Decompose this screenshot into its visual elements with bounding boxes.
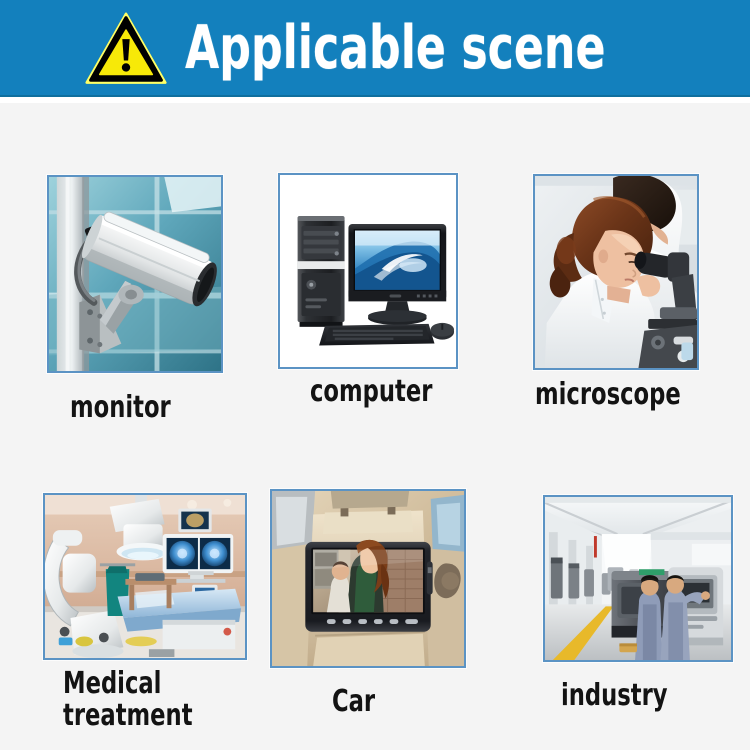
scene-card-microscope: microscope [533, 174, 699, 370]
medical-operating-room-photo [43, 493, 247, 660]
applicable-scene-page: Applicable scene [0, 0, 750, 750]
scene-card-industry: industry [543, 495, 733, 662]
page-header-banner: Applicable scene [0, 0, 750, 97]
factory-floor-photo [543, 495, 733, 662]
desktop-computer-photo [278, 173, 458, 369]
scene-label-computer: computer [310, 376, 432, 408]
warning-triangle-icon [85, 12, 167, 86]
scene-label-industry: industry [561, 680, 668, 712]
scene-label-medical: Medical treatment [63, 668, 193, 733]
header-content: Applicable scene [85, 12, 698, 86]
scene-card-car: Car [270, 489, 466, 668]
car-headrest-monitor-photo [270, 489, 466, 668]
scene-label-monitor: monitor [70, 392, 171, 424]
scene-card-medical: Medical treatment [43, 493, 247, 660]
scene-label-car: Car [332, 686, 375, 718]
scene-card-monitor: monitor [47, 175, 223, 373]
microscope-lab-photo [533, 174, 699, 370]
security-camera-photo [47, 175, 223, 373]
scene-grid: monitor [0, 103, 750, 750]
page-title: Applicable scene [185, 20, 605, 76]
scene-label-microscope: microscope [535, 379, 681, 411]
scene-card-computer: computer [278, 173, 458, 369]
